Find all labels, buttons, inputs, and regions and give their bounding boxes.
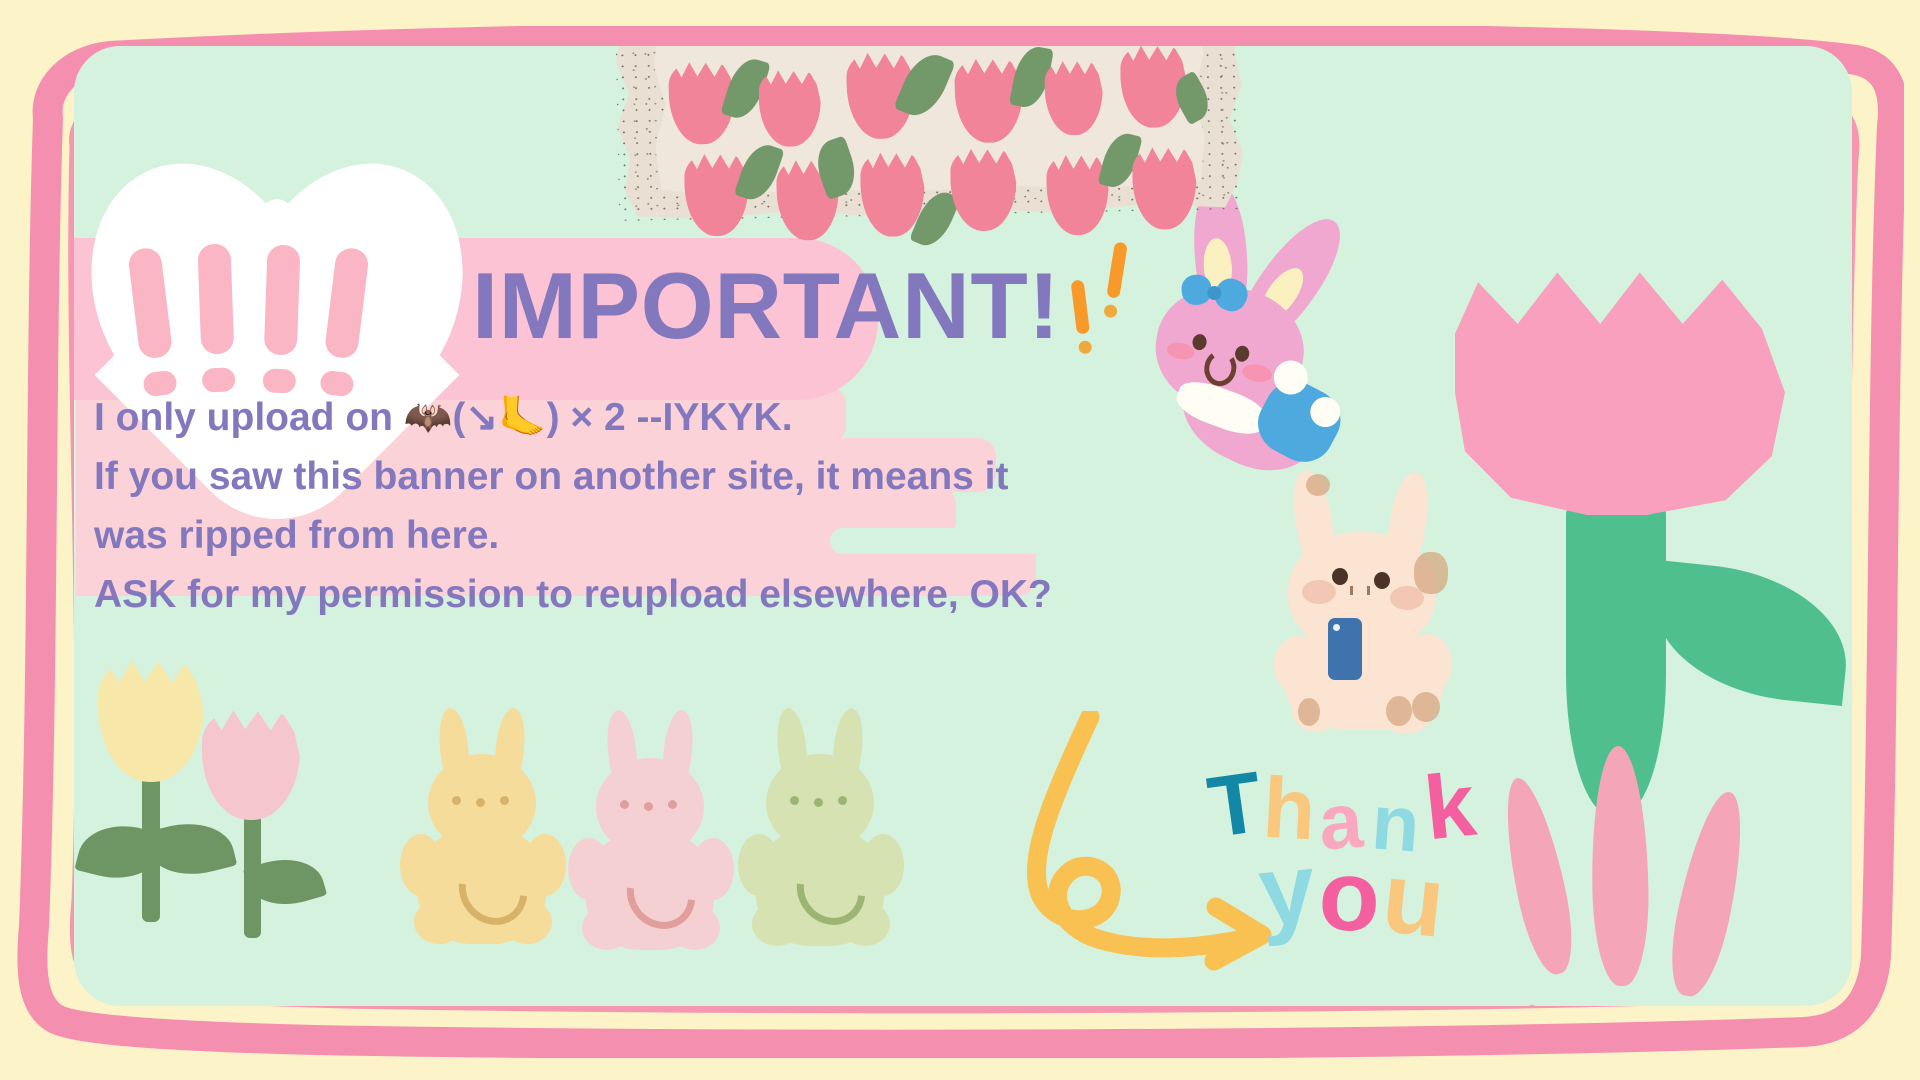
body-line-1: I only upload on 🦇(↘🦶) × 2 --IYKYK. <box>94 388 1052 447</box>
gummy-bunny-yellow <box>404 708 564 946</box>
body-line-2: If you saw this banner on another site, … <box>94 447 1052 506</box>
thankyou-letter-o: o <box>1316 844 1382 947</box>
thankyou-letter-y: y <box>1255 838 1319 942</box>
tulip-bloom <box>1455 270 1785 515</box>
body-line-4: ASK for my permission to reupload elsewh… <box>94 565 1052 624</box>
thankyou-letter-u: u <box>1378 847 1449 953</box>
tulip-leaf <box>1645 560 1852 706</box>
banner-card: IMPORTANT! I only upload on 🦇(↘🦶) × 2 --… <box>74 46 1852 1006</box>
washi-tape-decoration <box>615 46 1244 221</box>
body-text-block: I only upload on 🦇(↘🦶) × 2 --IYKYK. If y… <box>94 388 1052 624</box>
sitting-bunny-decoration <box>1282 470 1482 715</box>
page-title: IMPORTANT! <box>472 252 1060 360</box>
gummy-bunny-pink <box>572 710 732 952</box>
thankyou-letter-k: k <box>1420 760 1479 855</box>
gummy-bunny-green <box>742 708 902 948</box>
big-tulip-decoration <box>1455 270 1785 515</box>
banner-canvas: IMPORTANT! I only upload on 🦇(↘🦶) × 2 --… <box>0 0 1920 1080</box>
body-line-3: was ripped from here. <box>94 506 1052 565</box>
